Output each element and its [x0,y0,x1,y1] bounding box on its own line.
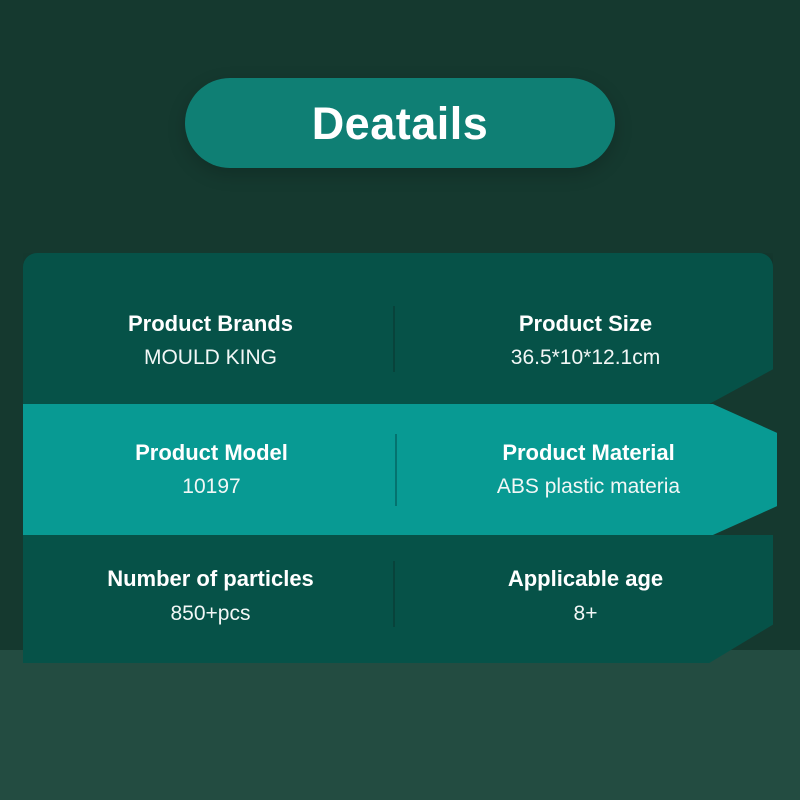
cell-value: 10197 [182,475,240,498]
cell-value: MOULD KING [144,346,277,369]
cell-label: Applicable age [508,567,663,591]
cell-label: Product Model [135,441,288,465]
cell-value: 36.5*10*12.1cm [511,346,660,369]
table-row: Product Brands MOULD KING Product Size 3… [23,253,773,404]
cell-value: 8+ [574,602,598,625]
cell-label: Product Material [502,441,674,465]
specification-table: Product Brands MOULD KING Product Size 3… [23,253,777,663]
page-title: Deatails [312,101,489,146]
table-cell-product-model: Product Model 10197 [23,404,400,535]
cell-divider [393,306,395,372]
table-cell-product-size: Product Size 36.5*10*12.1cm [398,253,773,404]
table-row-highlighted: Product Model 10197 Product Material ABS… [23,404,777,535]
table-cell-number-of-particles: Number of particles 850+pcs [23,535,398,663]
cell-divider [395,434,397,506]
cell-value: ABS plastic materia [497,475,680,498]
product-details-panel: Deatails Product Brands MOULD KING Produ… [0,0,800,800]
cell-value: 850+pcs [171,602,251,625]
table-cell-applicable-age: Applicable age 8+ [398,535,773,663]
cell-label: Product Size [519,312,652,336]
background-bottom-band [0,650,800,800]
table-row: Number of particles 850+pcs Applicable a… [23,535,773,663]
page-title-pill: Deatails [185,78,615,168]
cell-label: Product Brands [128,312,293,336]
cell-label: Number of particles [107,567,314,591]
cell-divider [393,561,395,627]
table-cell-product-brands: Product Brands MOULD KING [23,253,398,404]
table-cell-product-material: Product Material ABS plastic materia [400,404,777,535]
